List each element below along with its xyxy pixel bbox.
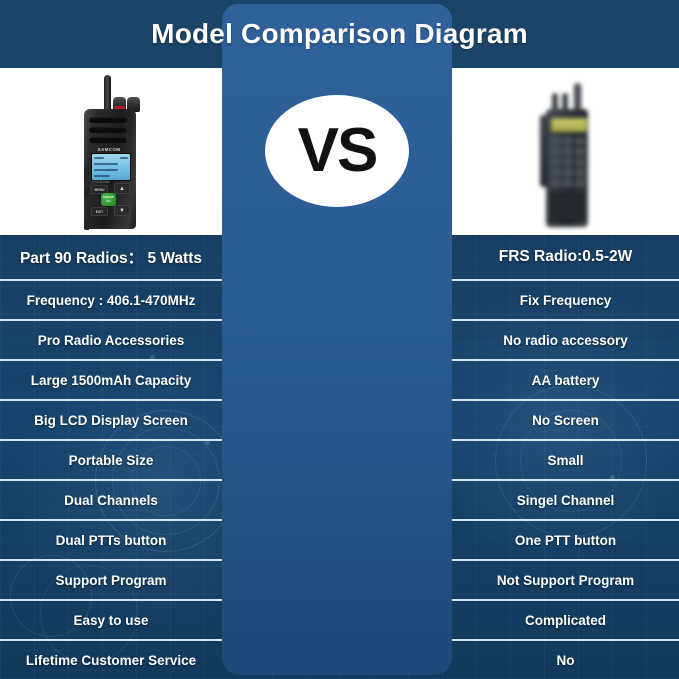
- table-cell-right: Fix Frequency: [452, 281, 679, 319]
- keypad-key: [551, 179, 561, 187]
- table-cell-left: Portable Size: [0, 441, 222, 479]
- samcom-radio-illustration: SAMCOM FPCN30A MENU EXIT ▲ ▼ GROUP: [80, 81, 142, 231]
- table-cell-right: Complicated: [452, 601, 679, 639]
- antenna-icon: [104, 75, 111, 111]
- ptt-label-line2: CH: [106, 200, 110, 203]
- table-cell-left: Part 90 Radios： 5 Watts: [0, 235, 222, 279]
- table-cell-left: Dual PTTs button: [0, 521, 222, 559]
- side-button-icon: [84, 221, 89, 230]
- lcd-text-line: [94, 157, 104, 159]
- table-cell-right: No radio accessory: [452, 321, 679, 359]
- comparison-infographic: Model Comparison Diagram: [0, 0, 679, 679]
- keypad-key: [575, 158, 585, 166]
- table-cell-right: FRS Radio:0.5-2W: [452, 235, 679, 279]
- table-cell-left: Big LCD Display Screen: [0, 401, 222, 439]
- up-arrow-icon: ▲: [114, 183, 130, 194]
- radio-model-label: FPCN30A: [92, 180, 110, 184]
- table-cell-right: No: [452, 641, 679, 679]
- keypad-key: [551, 158, 561, 166]
- lcd-text-line: [94, 169, 118, 171]
- table-cell-right: Singel Channel: [452, 481, 679, 519]
- left-radio-stage: SAMCOM FPCN30A MENU EXIT ▲ ▼ GROUP: [0, 68, 222, 235]
- vs-badge: VS: [265, 95, 409, 207]
- table-cell-left: Lifetime Customer Service: [0, 641, 222, 679]
- lcd-icon-line: [120, 157, 128, 159]
- vs-label: VS: [298, 120, 377, 182]
- table-cell-left: Large 1500mAh Capacity: [0, 361, 222, 399]
- table-cell-left: Dual Channels: [0, 481, 222, 519]
- side-button-icon: [84, 167, 89, 183]
- side-button-icon: [84, 187, 89, 197]
- keypad-key: [563, 179, 573, 187]
- table-cell-left: Easy to use: [0, 601, 222, 639]
- frs-radio-illustration: [534, 79, 598, 229]
- table-cell-right: No Screen: [452, 401, 679, 439]
- speaker-grill-icon: [89, 117, 127, 123]
- down-arrow-icon: ▼: [114, 205, 130, 216]
- keypad: [551, 137, 585, 187]
- keypad-key: [563, 168, 573, 176]
- lcd-text-line: [94, 163, 118, 165]
- keypad-key: [551, 137, 561, 145]
- keypad-key: [575, 137, 585, 145]
- left-product-image: SAMCOM FPCN30A MENU EXIT ▲ ▼ GROUP: [0, 68, 222, 235]
- speaker-grill-icon: [89, 137, 127, 143]
- keypad-key: [563, 158, 573, 166]
- table-cell-right: AA battery: [452, 361, 679, 399]
- keypad-key: [551, 147, 561, 155]
- side-grip-icon: [540, 115, 548, 187]
- speaker-grill-icon: [89, 127, 127, 133]
- lcd-screen: [550, 117, 588, 133]
- table-cell-left: Frequency : 406.1-470MHz: [0, 281, 222, 319]
- lcd-text-line: [94, 175, 110, 177]
- lcd-screen: [91, 153, 131, 181]
- group-channel-button: GROUP CH: [101, 193, 116, 206]
- keypad-key: [563, 147, 573, 155]
- table-cell-right: Small: [452, 441, 679, 479]
- table-cell-left: Pro Radio Accessories: [0, 321, 222, 359]
- speaker-grill-icon: [550, 191, 586, 221]
- right-product-image: [452, 68, 679, 235]
- page-title: Model Comparison Diagram: [0, 0, 679, 68]
- keypad-key: [575, 179, 585, 187]
- table-cell-left: Support Program: [0, 561, 222, 599]
- right-radio-stage: [452, 68, 679, 235]
- table-cell-right: One PTT button: [452, 521, 679, 559]
- radio-brand-label: SAMCOM: [92, 147, 126, 152]
- table-cell-right: Not Support Program: [452, 561, 679, 599]
- keypad-key: [575, 168, 585, 176]
- exit-button: EXIT: [91, 207, 108, 216]
- keypad-key: [563, 137, 573, 145]
- keypad-key: [551, 168, 561, 176]
- keypad-key: [575, 147, 585, 155]
